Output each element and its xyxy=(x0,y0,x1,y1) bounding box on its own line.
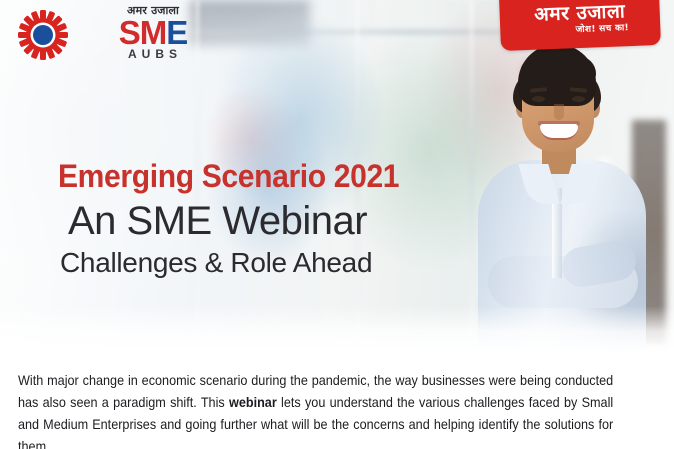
hero-bottom-fade xyxy=(0,306,674,352)
eye-right xyxy=(572,96,585,102)
hair-fringe xyxy=(520,56,596,86)
sme-letters-sm: SM xyxy=(119,14,167,51)
sme-letters: SME xyxy=(76,18,230,48)
description-highlight: webinar xyxy=(229,395,277,410)
page-title: An SME Webinar xyxy=(58,198,478,244)
headline-subtitle: Challenges & Role Ahead xyxy=(58,246,478,280)
aubs-label: AUBS xyxy=(76,47,230,62)
webinar-promo-poster: अमर उजाला SME AUBS अमर उजाला जोश! सच का!… xyxy=(0,0,674,449)
smile xyxy=(540,124,578,140)
amar-ujala-logo-inner: अमर उजाला जोश! सच का! xyxy=(499,0,661,51)
headline-block: Emerging Scenario 2021 An SME Webinar Ch… xyxy=(58,158,478,280)
sme-wordmark: अमर उजाला SME AUBS xyxy=(76,4,230,62)
gear-icon xyxy=(18,10,68,60)
description-paragraph: With major change in economic scenario d… xyxy=(18,370,613,449)
nose xyxy=(554,104,564,120)
sme-letter-e: E xyxy=(166,14,187,51)
eye-left xyxy=(532,96,545,102)
amar-ujala-logo: अमर उजाला जोश! सच का! xyxy=(499,0,661,51)
speaker-photo xyxy=(466,38,662,352)
sme-aubs-logo: अमर उजाला SME AUBS xyxy=(18,4,230,66)
headline-eyebrow: Emerging Scenario 2021 xyxy=(58,158,453,194)
